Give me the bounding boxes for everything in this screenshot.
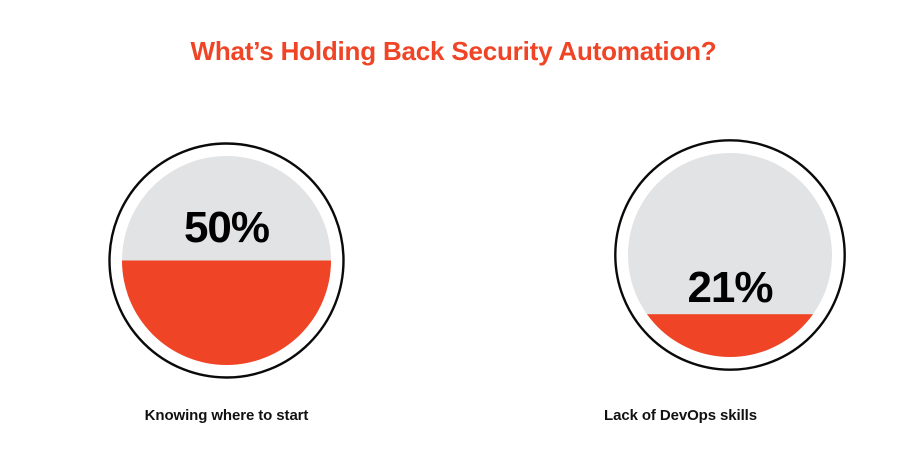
gauge-svg-1	[108, 142, 345, 379]
gauge-caption-2: Lack of DevOps skills	[454, 407, 907, 424]
gauge-group-lack-of-devops-skills: 21% Lack of DevOps skills	[454, 0, 907, 472]
gauge-group-knowing-where-to-start: 50% Knowing where to start	[0, 0, 453, 472]
gauge-svg-2	[614, 139, 846, 371]
gauge-chart-2: 21%	[614, 139, 846, 371]
gauge-chart-1: 50%	[108, 142, 345, 379]
gauge-fill-1	[108, 261, 345, 380]
infographic-root: What’s Holding Back Security Automation?	[0, 0, 907, 472]
gauge-fill-2	[614, 314, 846, 371]
gauge-caption-1: Knowing where to start	[0, 407, 453, 424]
